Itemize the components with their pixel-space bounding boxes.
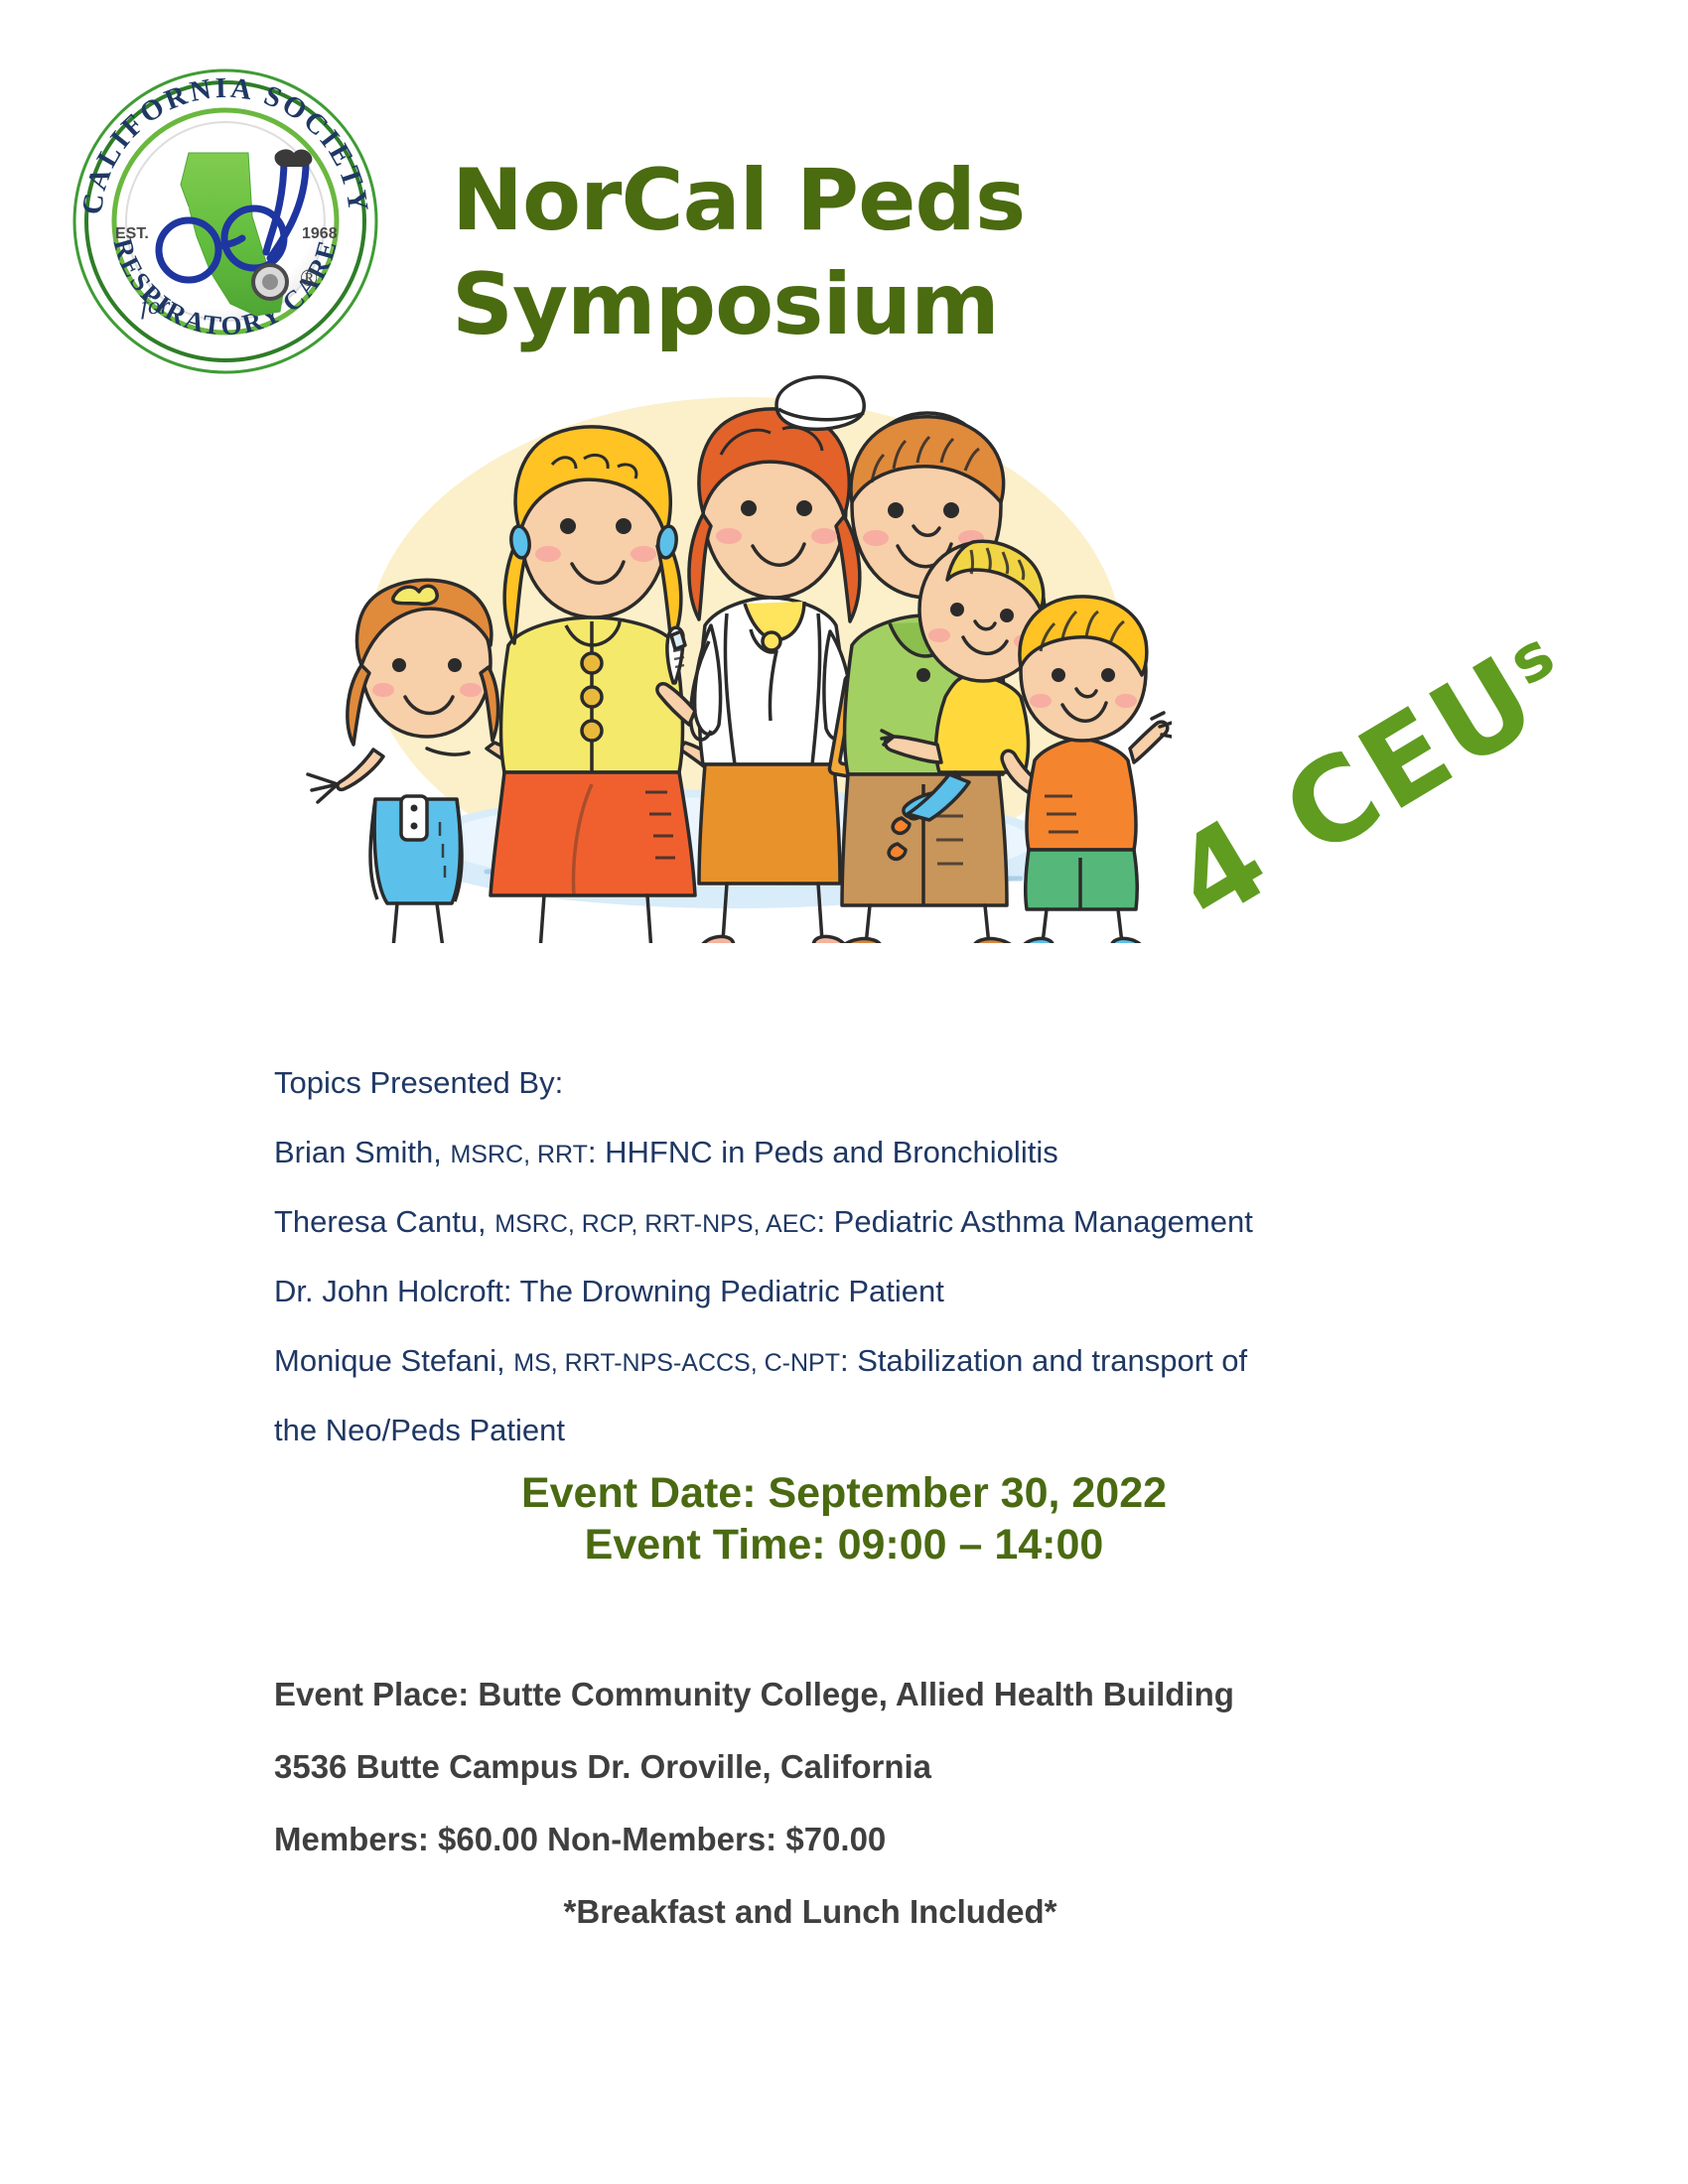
csrc-logo: CALIFORNIA SOCIETY RESPIRATORY CARE for …	[71, 68, 379, 375]
presenter-credentials: MSRC, RRT	[450, 1141, 587, 1168]
logo-est-label: EST.	[115, 225, 149, 242]
event-place: Event Place: Butte Community College, Al…	[274, 1678, 1565, 1710]
registered-trademark-icon: ®	[300, 266, 318, 293]
presenter-topic: : Stabilization and transport of	[840, 1343, 1247, 1378]
meals-note: *Breakfast and Lunch Included*	[274, 1895, 1346, 1928]
presenter-name: Theresa Cantu,	[274, 1204, 487, 1239]
presenter-name: Monique Stefani,	[274, 1343, 505, 1378]
event-date: Event Date: September 30, 2022	[0, 1467, 1688, 1519]
topic-entry-4: Monique Stefani, MS, RRT-NPS-ACCS, C-NPT…	[274, 1345, 1466, 1376]
presenter-credentials: MSRC, RCP, RRT-NPS, AEC	[494, 1210, 816, 1238]
topics-section: Topics Presented By: Brian Smith, MSRC, …	[274, 1067, 1466, 1484]
event-datetime: Event Date: September 30, 2022 Event Tim…	[0, 1467, 1688, 1571]
logo-est-year: 1968	[302, 225, 338, 242]
presenter-topic: : Pediatric Asthma Management	[816, 1204, 1252, 1239]
event-time: Event Time: 09:00 – 14:00	[0, 1519, 1688, 1570]
ceu-badge: 4 CEUs	[1152, 611, 1594, 949]
topic-entry-4-wrap: the Neo/Peds Patient	[274, 1415, 1466, 1445]
presenter-name: Brian Smith,	[274, 1135, 442, 1169]
topics-heading: Topics Presented By:	[274, 1067, 1466, 1098]
title-line-2: Symposium	[452, 253, 1147, 357]
topic-entry-1: Brian Smith, MSRC, RRT: HHFNC in Peds an…	[274, 1137, 1466, 1167]
flyer-page: CALIFORNIA SOCIETY RESPIRATORY CARE for …	[0, 0, 1688, 2184]
event-pricing: Members: $60.00 Non-Members: $70.00	[274, 1823, 1565, 1855]
title-line-1: NorCal Peds	[452, 151, 1025, 250]
logo-for-word: for	[141, 293, 170, 320]
event-address: 3536 Butte Campus Dr. Oroville, Californ…	[274, 1750, 1565, 1783]
presenter-credentials: MS, RRT-NPS-ACCS, C-NPT	[513, 1349, 840, 1377]
topic-entry-3: Dr. John Holcroft: The Drowning Pediatri…	[274, 1276, 1466, 1306]
presenter-topic: : HHFNC in Peds and Bronchiolitis	[588, 1135, 1058, 1169]
page-title: NorCal Peds Symposium	[452, 149, 1147, 357]
topic-entry-2: Theresa Cantu, MSRC, RCP, RRT-NPS, AEC: …	[274, 1206, 1466, 1237]
event-details: Event Place: Butte Community College, Al…	[274, 1678, 1565, 1928]
figure-boy	[1002, 597, 1172, 943]
presenter-name: Dr. John Holcroft: The Drowning Pediatri…	[274, 1274, 944, 1308]
nurse-cap-icon	[776, 377, 864, 430]
family-illustration	[278, 347, 1172, 943]
